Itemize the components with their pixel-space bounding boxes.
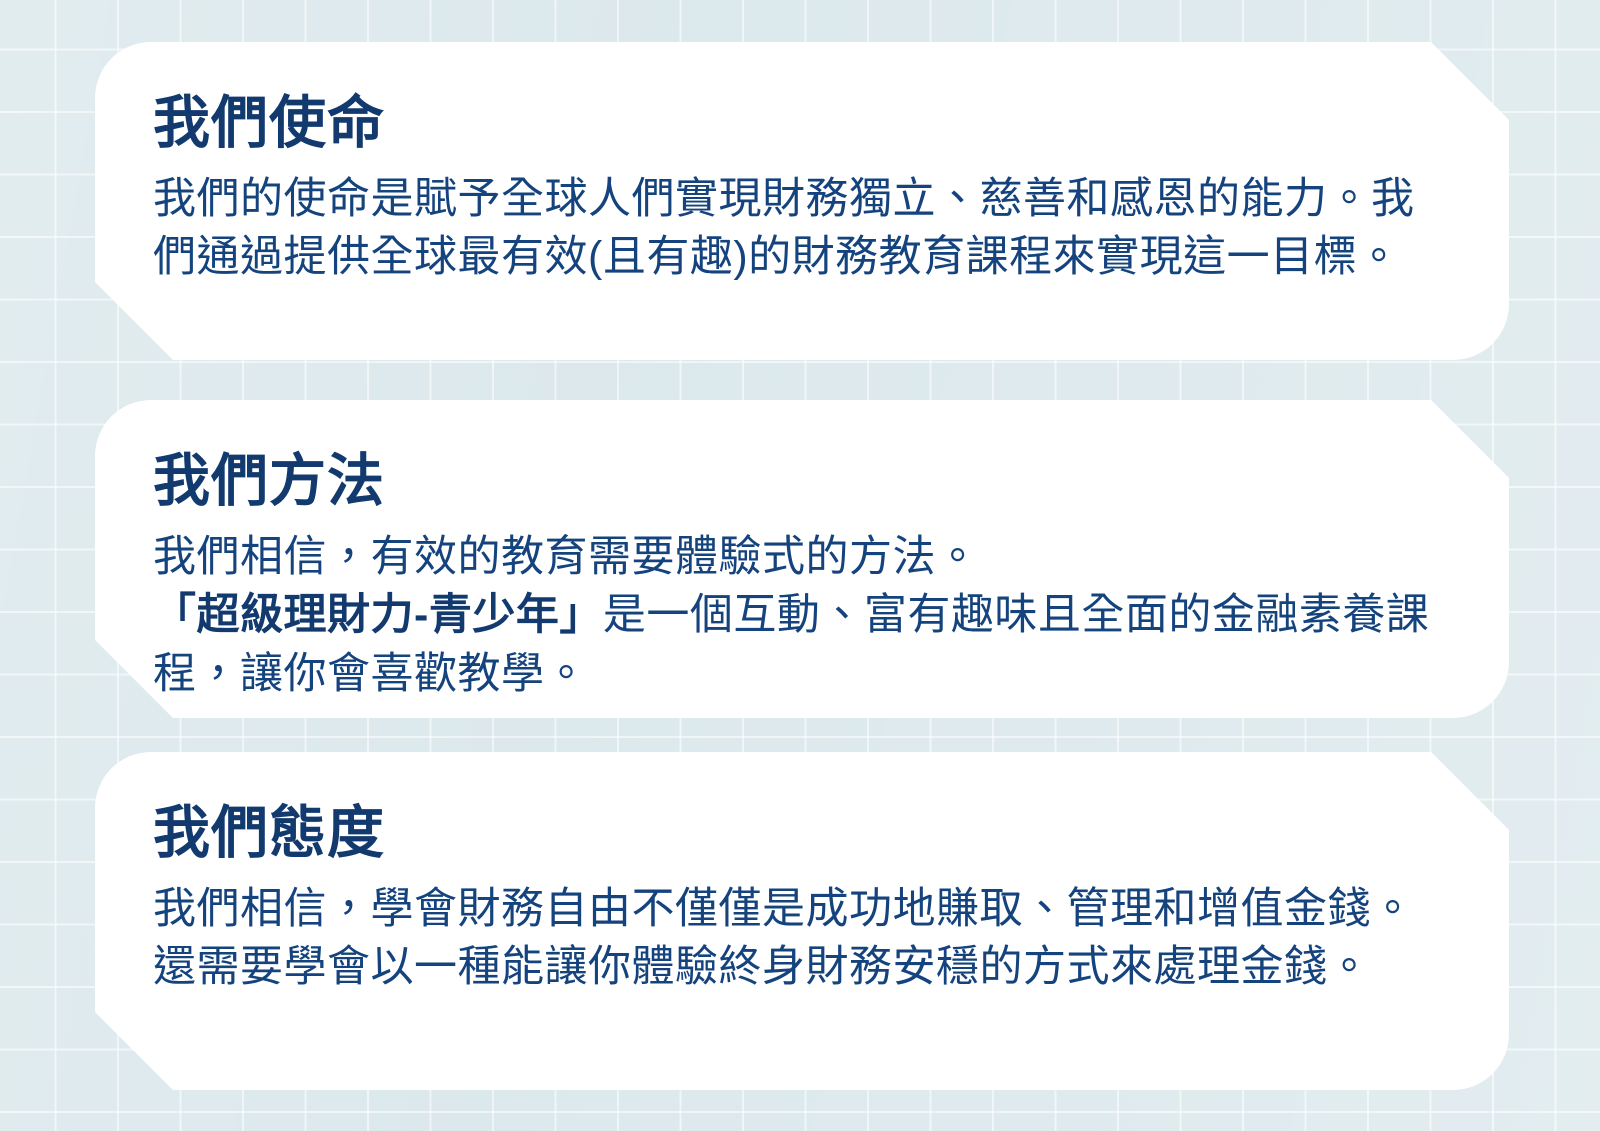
card-method-heading: 我們方法: [153, 452, 1451, 512]
card-method-body: 我們相信，有效的教育需要體驗式的方法。 「超級理財力-青少年」是一個互動、富有趣…: [153, 528, 1451, 703]
card-attitude: 我們態度 我們相信，學會財務自由不僅僅是成功地賺取、管理和增值金錢。還需要學會以…: [95, 752, 1509, 1090]
card-mission-heading: 我們使命: [153, 94, 1451, 154]
card-method-program-name: 「超級理財力-青少年」: [153, 591, 603, 639]
card-attitude-heading: 我們態度: [153, 804, 1451, 864]
card-mission-body: 我們的使命是賦予全球人們實現財務獨立、慈善和感恩的能力。我們通過提供全球最有效(…: [153, 170, 1451, 287]
card-method: 我們方法 我們相信，有效的教育需要體驗式的方法。 「超級理財力-青少年」是一個互…: [95, 400, 1509, 718]
card-stack: 我們使命 我們的使命是賦予全球人們實現財務獨立、慈善和感恩的能力。我們通過提供全…: [0, 0, 1600, 1131]
card-attitude-body: 我們相信，學會財務自由不僅僅是成功地賺取、管理和增值金錢。還需要學會以一種能讓你…: [153, 880, 1451, 997]
card-method-body-line-1: 我們相信，有效的教育需要體驗式的方法。: [153, 528, 1451, 586]
card-mission: 我們使命 我們的使命是賦予全球人們實現財務獨立、慈善和感恩的能力。我們通過提供全…: [95, 42, 1509, 360]
